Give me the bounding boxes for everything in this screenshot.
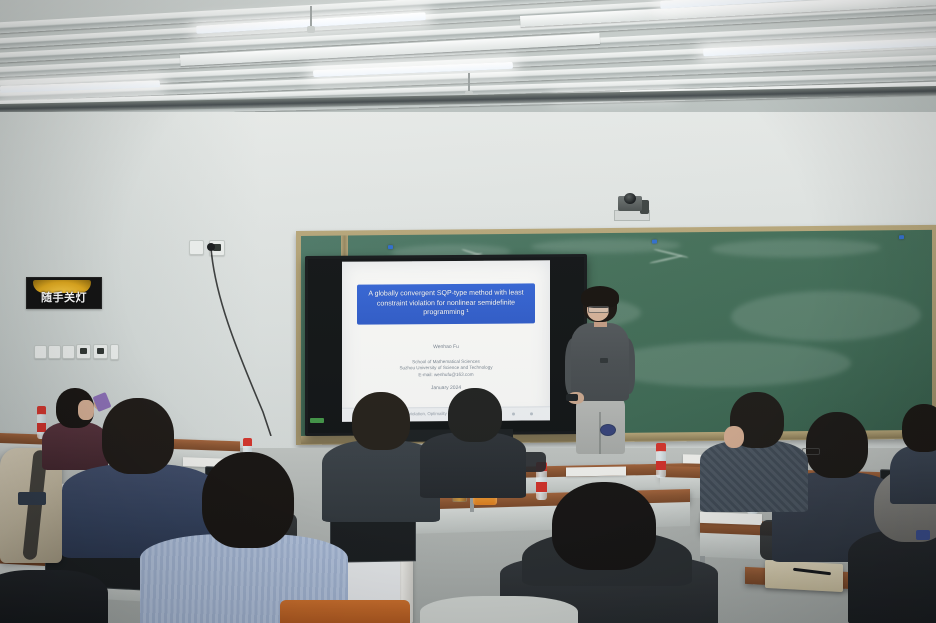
attendee — [140, 452, 350, 623]
pants-logo — [600, 424, 616, 436]
attendee-body — [420, 596, 578, 623]
glasses-icon — [588, 306, 609, 313]
attendee-body — [700, 440, 808, 512]
attendee — [700, 392, 810, 512]
attendee-body — [890, 446, 936, 504]
presentation-clicker[interactable] — [566, 394, 578, 401]
attendee-body — [848, 530, 936, 623]
notebook[interactable] — [765, 560, 843, 592]
attendee-head — [448, 388, 502, 442]
printed-paper[interactable] — [566, 466, 626, 476]
attendee-head — [552, 482, 656, 570]
attendee-head — [352, 392, 410, 450]
attendee-hand — [724, 426, 744, 448]
orange-chair-foreground[interactable] — [280, 600, 410, 623]
backpack-tag — [18, 492, 46, 505]
water-bottle[interactable] — [656, 443, 666, 478]
attendee — [0, 560, 110, 623]
attendee — [890, 404, 936, 504]
badge-lanyard — [916, 530, 930, 540]
attendee — [420, 596, 580, 623]
presenter-hair — [581, 286, 619, 308]
classroom-photo: 随手关灯 A — [0, 0, 936, 623]
attendee-body — [0, 570, 108, 623]
attendee-head — [902, 404, 936, 452]
attendee-head — [202, 452, 294, 548]
sweater-logo — [600, 358, 608, 363]
